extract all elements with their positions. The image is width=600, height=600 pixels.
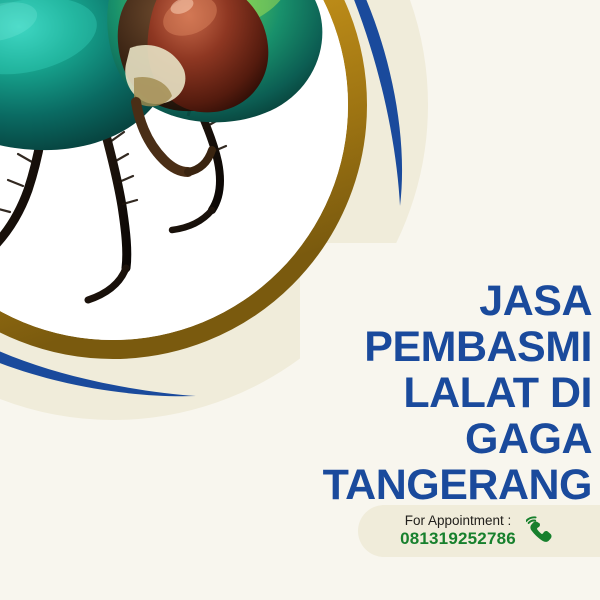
appointment-label: For Appointment : <box>400 513 516 529</box>
headline-line-3: LALAT DI <box>262 370 592 416</box>
headline: JASA PEMBASMI LALAT DI GAGA TANGERANG <box>262 278 592 508</box>
phone-handset-icon[interactable] <box>526 514 560 548</box>
headline-line-1: JASA <box>262 278 592 324</box>
appointment-text-block: For Appointment : 081319252786 <box>400 513 516 549</box>
headline-line-2: PEMBASMI <box>262 324 592 370</box>
headline-line-5: TANGERANG <box>262 462 592 508</box>
poster-canvas: JASA PEMBASMI LALAT DI GAGA TANGERANG Fo… <box>0 0 600 600</box>
headline-line-4: GAGA <box>262 416 592 462</box>
navy-arc-bottom <box>0 348 196 396</box>
appointment-pill[interactable]: For Appointment : 081319252786 <box>358 505 600 557</box>
navy-arc-top <box>351 0 402 206</box>
appointment-phone-number[interactable]: 081319252786 <box>400 529 516 549</box>
